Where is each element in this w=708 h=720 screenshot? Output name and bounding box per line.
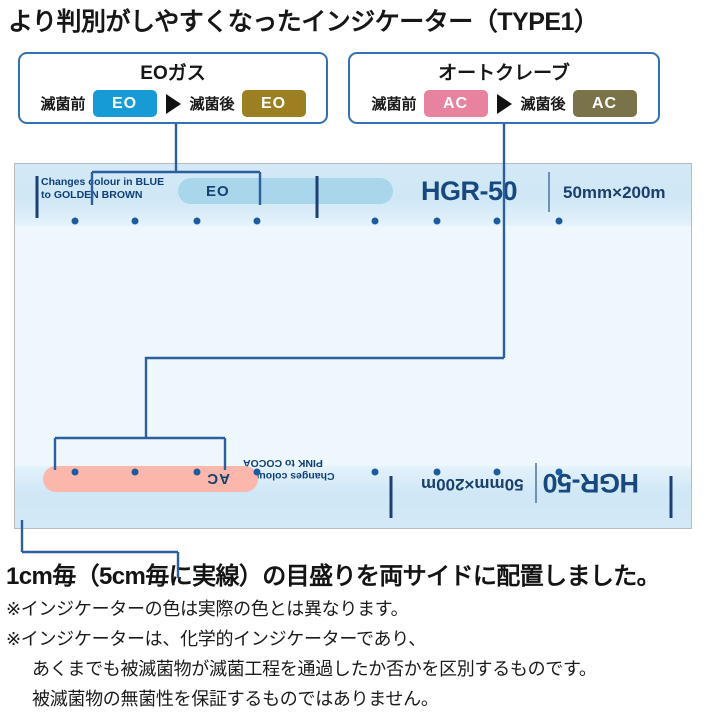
ac-after-chip: AC [573, 90, 637, 117]
tape-top-indicator-capsule-eo: EO [178, 178, 393, 204]
caption-note-2: ※インジケーターは、化学的インジケーターであり、 [6, 625, 426, 651]
tick-dot-8 [556, 218, 563, 225]
header-box-autoclave: オートクレーブ 滅菌前 AC 滅菌後 AC [348, 52, 660, 124]
eo-after-chip: EO [242, 90, 306, 117]
caption-note-1: ※インジケーターの色は実際の色とは異なります。 [6, 595, 408, 621]
eo-before-chip: EO [93, 90, 157, 117]
tick-dot-4 [254, 469, 261, 476]
tick-dot-2 [132, 469, 139, 476]
caption-main: 1cm毎（5cm毎に実線）の目盛りを両サイドに配置しました。 [6, 556, 660, 591]
arrow-right-icon-eo [166, 94, 181, 114]
tape-top-english-line1: Changes colour in BLUE [41, 176, 164, 189]
tick-dot-6 [434, 469, 441, 476]
tick-dot-3 [194, 218, 201, 225]
tick-dot-2 [132, 218, 139, 225]
tick-dot-5 [372, 469, 379, 476]
page-title: より判別がしやすくなったインジケーター（TYPE1） [8, 2, 598, 38]
ac-before-chip: AC [424, 90, 488, 117]
product-tape-panel: Changes colour in BLUE to GOLDEN BROWN E… [14, 163, 692, 529]
eo-after-label: 滅菌後 [190, 93, 235, 114]
tape-bottom-major-tick-2 [390, 476, 393, 518]
tick-dot-1 [72, 218, 79, 225]
ac-after-label: 滅菌後 [521, 93, 566, 114]
caption-note-4: 被滅菌物の無菌性を保証するものではありません。 [32, 685, 439, 711]
tick-dot-4 [254, 218, 261, 225]
tick-dot-8 [556, 469, 563, 476]
tick-dot-6 [434, 218, 441, 225]
tape-top-english-line2: to GOLDEN BROWN [41, 189, 164, 202]
tape-top-size: 50mm×200m [563, 183, 666, 203]
tick-dot-1 [72, 469, 79, 476]
header-title-autoclave: オートクレーブ [350, 58, 658, 85]
tick-dot-7 [494, 469, 501, 476]
tick-dot-5 [372, 218, 379, 225]
tape-bottom-major-tick-1 [670, 476, 673, 518]
tape-top-brand: HGR-50 [421, 176, 517, 207]
ac-before-label: 滅菌前 [371, 93, 416, 114]
caption-note-3: あくまでも被滅菌物が滅菌工程を通過したか否かを区別するものです。 [32, 655, 597, 681]
tape-bottom-divider [535, 463, 537, 503]
eo-before-label: 滅菌前 [40, 93, 85, 114]
tape-top-divider [548, 172, 550, 212]
header-box-eo-gas: EOガス 滅菌前 EO 滅菌後 EO [18, 52, 328, 124]
tick-dot-7 [494, 218, 501, 225]
tape-top-english: Changes colour in BLUE to GOLDEN BROWN [41, 176, 164, 202]
tape-top-major-tick-1 [36, 176, 39, 218]
tick-dot-3 [194, 469, 201, 476]
arrow-right-icon-ac [497, 94, 512, 114]
header-title-eo-gas: EOガス [20, 58, 326, 85]
tape-bottom-size: 50mm×200m [421, 474, 524, 494]
tape-bottom-english-line2: PINK to COCOA [243, 456, 335, 469]
header-row-eo-gas: 滅菌前 EO 滅菌後 EO [20, 90, 326, 117]
header-row-autoclave: 滅菌前 AC 滅菌後 AC [350, 90, 658, 117]
tape-top-major-tick-2 [316, 176, 319, 218]
